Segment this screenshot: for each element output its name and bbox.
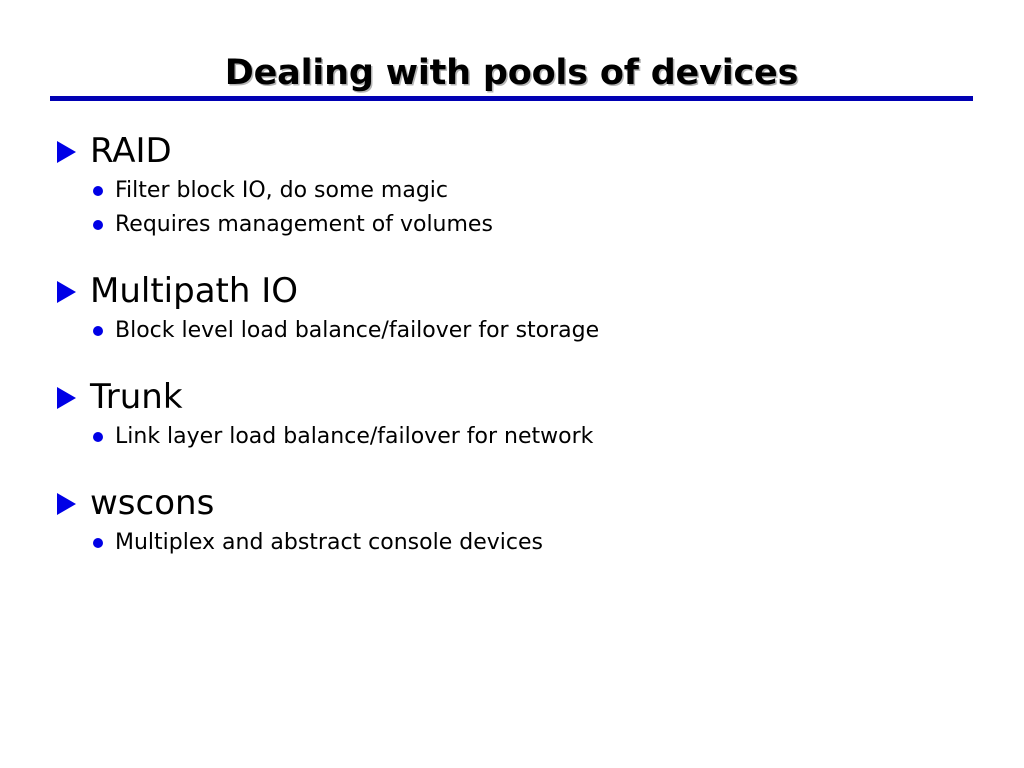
bullet-group-multipath-io: Multipath IO Block level load balance/fa… — [0, 268, 1024, 348]
level2-item: Link layer load balance/failover for net… — [0, 420, 1024, 454]
level1-heading-text: wscons — [90, 480, 214, 526]
page-title: Dealing with pools of devices — [225, 52, 798, 94]
level1-item-multipath-io: Multipath IO — [0, 268, 1024, 314]
level2-item: Requires management of volumes — [0, 208, 1024, 242]
level2-item: Filter block IO, do some magic — [0, 174, 1024, 208]
level1-item-raid: RAID — [0, 128, 1024, 174]
level1-item-trunk: Trunk — [0, 374, 1024, 420]
presentation-slide: Dealing with pools of devices RAID Filte… — [0, 0, 1024, 768]
level2-item-text: Filter block IO, do some magic — [115, 174, 448, 208]
level1-item-wscons: wscons — [0, 480, 1024, 526]
level2-item-text: Requires management of volumes — [115, 208, 493, 242]
level2-item-text: Multiplex and abstract console devices — [115, 526, 543, 560]
title-divider-rule — [50, 96, 973, 101]
round-dot-bullet-icon — [93, 220, 103, 230]
triangle-right-bullet-icon — [57, 141, 76, 163]
triangle-right-bullet-icon — [57, 281, 76, 303]
level2-item: Block level load balance/failover for st… — [0, 314, 1024, 348]
triangle-right-bullet-icon — [57, 387, 76, 409]
round-dot-bullet-icon — [93, 186, 103, 196]
bullet-group-trunk: Trunk Link layer load balance/failover f… — [0, 374, 1024, 454]
level2-item-text: Block level load balance/failover for st… — [115, 314, 599, 348]
level1-heading-text: RAID — [90, 128, 172, 174]
bullet-group-raid: RAID Filter block IO, do some magic Requ… — [0, 128, 1024, 242]
round-dot-bullet-icon — [93, 538, 103, 548]
bullet-group-wscons: wscons Multiplex and abstract console de… — [0, 480, 1024, 560]
slide-title-block: Dealing with pools of devices — [50, 50, 973, 96]
level2-item: Multiplex and abstract console devices — [0, 526, 1024, 560]
level2-item-text: Link layer load balance/failover for net… — [115, 420, 593, 454]
slide-body-content: RAID Filter block IO, do some magic Requ… — [0, 128, 1024, 560]
round-dot-bullet-icon — [93, 432, 103, 442]
triangle-right-bullet-icon — [57, 493, 76, 515]
round-dot-bullet-icon — [93, 326, 103, 336]
level1-heading-text: Multipath IO — [90, 268, 298, 314]
level1-heading-text: Trunk — [90, 374, 183, 420]
